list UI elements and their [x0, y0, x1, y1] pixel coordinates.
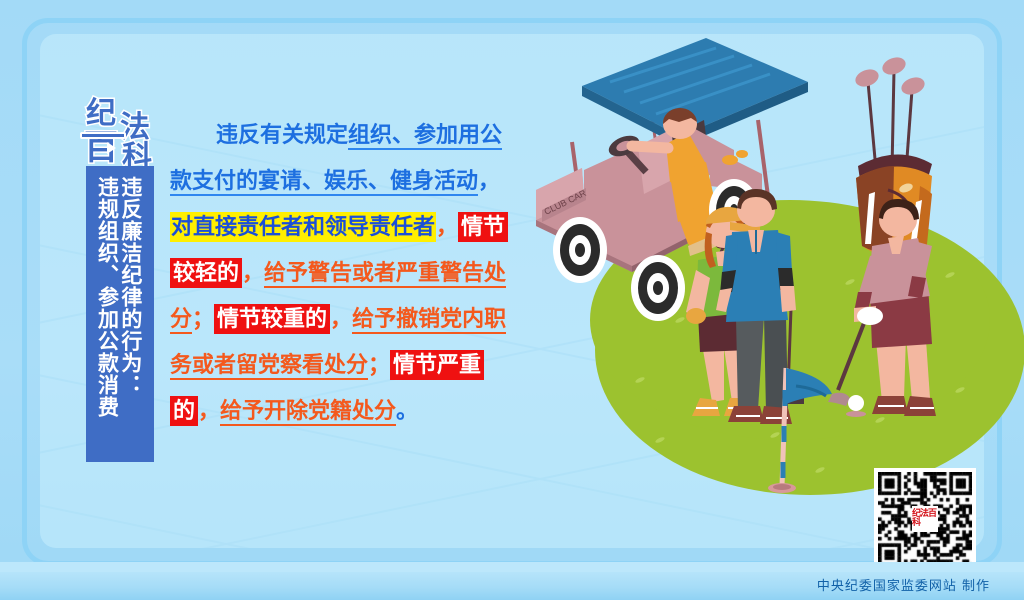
paragraph-segment: ， [436, 214, 458, 240]
paragraph-segment: 务或者留党察看处分 [170, 352, 368, 380]
paragraph-segment: 。 [396, 398, 418, 424]
paragraph-line: 较轻的，给予警告或者严重警告处 [170, 250, 540, 296]
paragraph-segment: ， [330, 306, 352, 332]
qr-code[interactable]: 纪法百科 [874, 468, 976, 570]
regulation-paragraph: 违反有关规定组织、参加用公款支付的宴请、娱乐、健身活动，对直接责任者和领导责任者… [170, 112, 540, 434]
paragraph-segment: 较轻的 [170, 258, 242, 288]
play-icon [107, 142, 116, 154]
paragraph-segment: 给予警告或者严重警告处 [264, 260, 506, 288]
paragraph-line: 对直接责任者和领导责任者，情节 [170, 204, 540, 250]
paragraph-segment: 组织、参加用公 [348, 122, 502, 150]
credit-text: 中央纪委国家监委网站 制作 [817, 575, 990, 594]
vertical-title-banner: 违反廉洁纪律的行为： 违规组织、参加公款消费 [86, 166, 154, 462]
paragraph-segment: ， [198, 398, 220, 424]
paragraph-segment: 情节较重的 [214, 304, 330, 334]
paragraph-segment: 的 [170, 396, 198, 426]
paragraph-segment: ， [242, 260, 264, 286]
banner-column-right: 违反廉洁纪律的行为： [121, 176, 142, 462]
banner-column-left: 违规组织、参加公款消费 [97, 176, 118, 462]
paragraph-segment: 情节严重 [390, 350, 484, 380]
bottom-strip-light [0, 562, 1024, 572]
paragraph-line: 违反有关规定组织、参加用公 [170, 112, 540, 158]
paragraph-segment: 款支付的宴请、娱乐、健身活动 [170, 168, 478, 196]
paragraph-segment: 对直接责任者和领导责任者 [170, 212, 436, 242]
paragraph-segment: 给予撤销党内职 [352, 306, 506, 334]
paragraph-segment: ； [368, 352, 390, 378]
paragraph-segment: ， [478, 168, 500, 194]
logo-bar [80, 132, 126, 139]
paragraph-line: 的，给予开除党籍处分。 [170, 388, 540, 434]
paragraph-line: 分；情节较重的，给予撤销党内职 [170, 296, 540, 342]
paragraph-line: 务或者留党察看处分；情节严重 [170, 342, 540, 388]
jifa-baike-logo: 纪 法 百 科 [80, 88, 172, 170]
paragraph-line: 款支付的宴请、娱乐、健身活动， [170, 158, 540, 204]
paragraph-segment: 违反有关规定 [216, 122, 348, 148]
poster-canvas: CLUB CAR [0, 0, 1024, 600]
qr-center-logo: 纪法百科 [912, 506, 938, 532]
paragraph-segment: ； [192, 306, 214, 332]
paragraph-segment: 情节 [458, 212, 508, 242]
paragraph-segment: 给予开除党籍处分 [220, 398, 396, 426]
paragraph-segment: 分 [170, 306, 192, 334]
